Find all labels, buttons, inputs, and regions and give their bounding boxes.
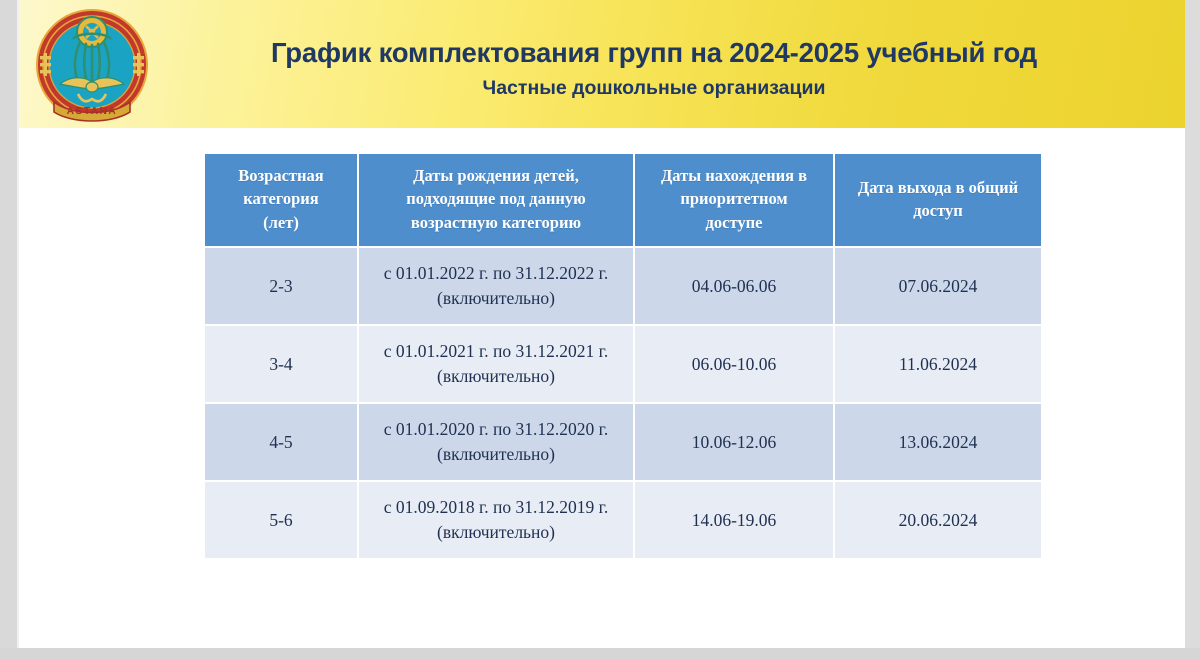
cell-public-access-date: 07.06.2024 xyxy=(835,248,1041,324)
birth-inclusive-note: (включительно) xyxy=(367,286,625,311)
column-header-public-access-date: Дата выхода в общий доступ xyxy=(835,154,1041,246)
header-line-1: Даты нахождения в xyxy=(661,166,807,185)
header-line-2: приоритетном xyxy=(680,189,787,208)
page-subtitle: Частные дошкольные организации xyxy=(483,77,826,99)
cell-birth-dates: с 01.01.2021 г. по 31.12.2021 г. (включи… xyxy=(359,326,633,402)
schedule-table: Возрастная категория (лет) Даты рождения… xyxy=(203,152,1043,560)
schedule-table-wrapper: Возрастная категория (лет) Даты рождения… xyxy=(203,152,1041,560)
birth-inclusive-note: (включительно) xyxy=(367,364,625,389)
birth-range: с 01.01.2021 г. по 31.12.2021 г. xyxy=(367,339,625,364)
birth-inclusive-note: (включительно) xyxy=(367,442,625,467)
cell-age-category: 3-4 xyxy=(205,326,357,402)
column-header-age-category: Возрастная категория (лет) xyxy=(205,154,357,246)
cell-birth-dates: с 01.01.2022 г. по 31.12.2022 г. (включи… xyxy=(359,248,633,324)
header-line-3: возрастную категорию xyxy=(411,213,581,232)
page-title: График комплектования групп на 2024-2025… xyxy=(271,37,1037,69)
birth-range: с 01.01.2020 г. по 31.12.2020 г. xyxy=(367,417,625,442)
cell-priority-dates: 04.06-06.06 xyxy=(635,248,833,324)
cell-birth-dates: с 01.09.2018 г. по 31.12.2019 г. (включи… xyxy=(359,482,633,558)
birth-inclusive-note: (включительно) xyxy=(367,520,625,545)
slide: ASTANA График комплектования групп на 20… xyxy=(0,0,1200,660)
cell-priority-dates: 10.06-12.06 xyxy=(635,404,833,480)
emblem-caption-text: ASTANA xyxy=(67,106,118,117)
header-line-3: (лет) xyxy=(263,213,299,232)
cell-birth-dates: с 01.01.2020 г. по 31.12.2020 г. (включи… xyxy=(359,404,633,480)
header-line-3: доступе xyxy=(706,213,763,232)
page-gutter-bottom xyxy=(0,648,1200,660)
header-line-1: Возрастная xyxy=(238,166,323,185)
table-body: 2-3 с 01.01.2022 г. по 31.12.2022 г. (вк… xyxy=(205,248,1041,558)
header-line-2: подходящие под данную xyxy=(406,189,585,208)
cell-priority-dates: 06.06-10.06 xyxy=(635,326,833,402)
page-gutter-right xyxy=(1185,0,1200,660)
column-header-priority-access-dates: Даты нахождения в приоритетном доступе xyxy=(635,154,833,246)
table-row: 2-3 с 01.01.2022 г. по 31.12.2022 г. (вк… xyxy=(205,248,1041,324)
cell-public-access-date: 20.06.2024 xyxy=(835,482,1041,558)
cell-public-access-date: 11.06.2024 xyxy=(835,326,1041,402)
cell-priority-dates: 14.06-19.06 xyxy=(635,482,833,558)
header-line-1: Дата выхода в общий xyxy=(858,178,1018,197)
cell-age-category: 5-6 xyxy=(205,482,357,558)
cell-public-access-date: 13.06.2024 xyxy=(835,404,1041,480)
page-gutter-left xyxy=(0,0,17,660)
header-line-2: доступ xyxy=(913,201,963,220)
column-header-birth-dates: Даты рождения детей, подходящие под данн… xyxy=(359,154,633,246)
header-line-1: Даты рождения детей, xyxy=(413,166,579,185)
cell-age-category: 2-3 xyxy=(205,248,357,324)
title-block: График комплектования групп на 2024-2025… xyxy=(189,0,1119,128)
cell-age-category: 4-5 xyxy=(205,404,357,480)
birth-range: с 01.09.2018 г. по 31.12.2019 г. xyxy=(367,495,625,520)
header-line-2: категория xyxy=(243,189,318,208)
table-header-row: Возрастная категория (лет) Даты рождения… xyxy=(205,154,1041,246)
table-row: 4-5 с 01.01.2020 г. по 31.12.2020 г. (вк… xyxy=(205,404,1041,480)
title-banner: ASTANA График комплектования групп на 20… xyxy=(19,0,1185,128)
table-row: 5-6 с 01.09.2018 г. по 31.12.2019 г. (вк… xyxy=(205,482,1041,558)
astana-coat-of-arms-icon: ASTANA xyxy=(32,6,152,124)
table-row: 3-4 с 01.01.2021 г. по 31.12.2021 г. (вк… xyxy=(205,326,1041,402)
birth-range: с 01.01.2022 г. по 31.12.2022 г. xyxy=(367,261,625,286)
